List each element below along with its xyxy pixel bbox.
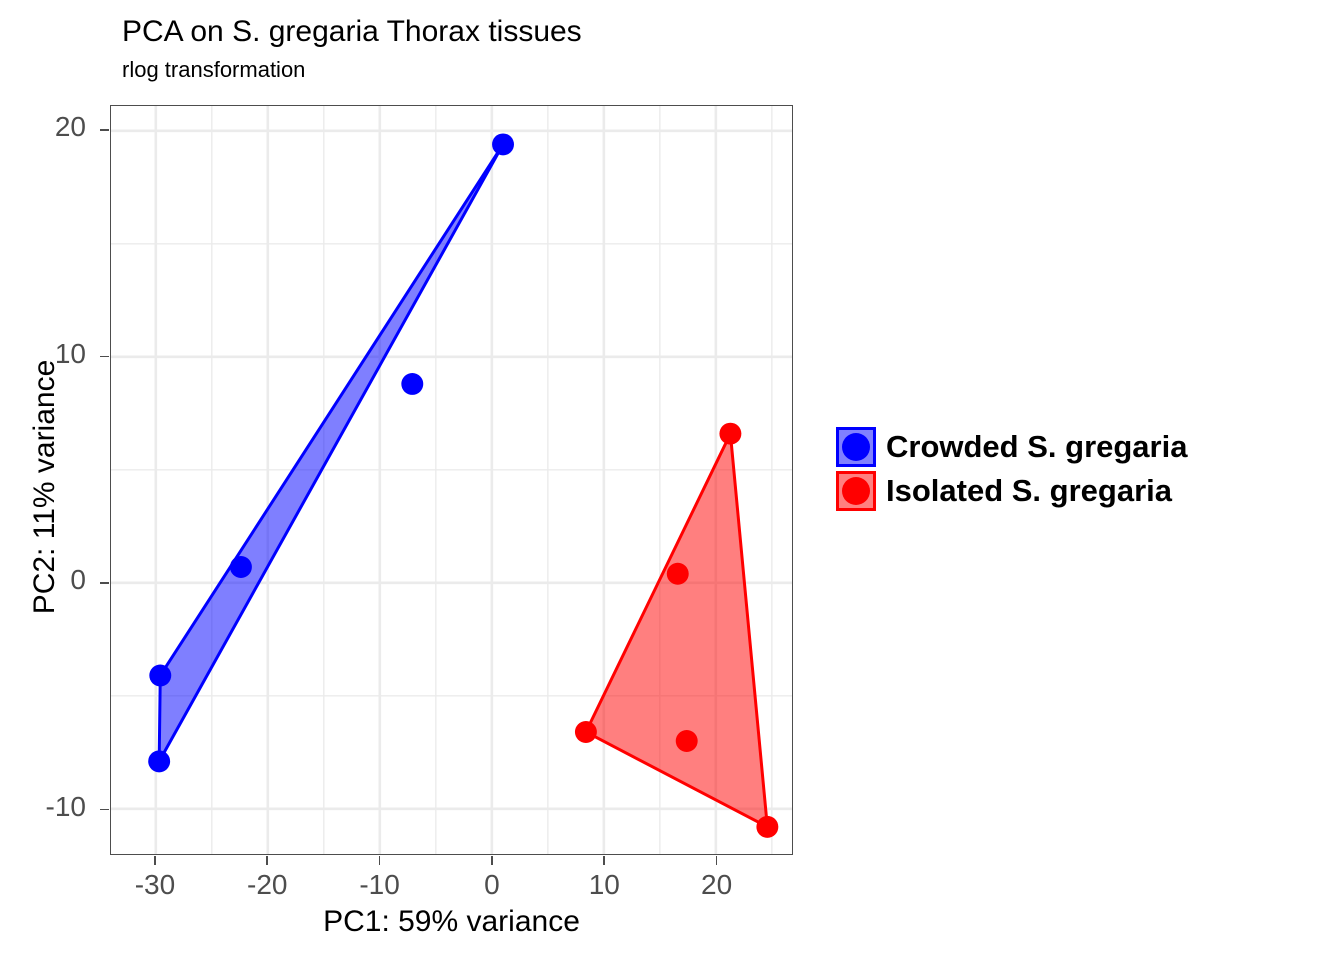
data-points bbox=[148, 133, 778, 837]
cluster-hull-isolated bbox=[586, 434, 767, 827]
legend-label-crowded: Crowded S. gregaria bbox=[886, 430, 1187, 464]
legend-dot-isolated-icon bbox=[842, 477, 870, 505]
y-axis-title: PC2: 11% variance bbox=[28, 112, 62, 862]
x-tick-label: 0 bbox=[442, 869, 542, 901]
data-point-isolated[interactable] bbox=[667, 563, 689, 585]
y-tick-mark bbox=[100, 809, 109, 811]
y-tick-mark bbox=[100, 356, 109, 358]
plot-panel bbox=[110, 105, 793, 855]
cluster-hulls bbox=[159, 144, 767, 826]
data-point-crowded[interactable] bbox=[401, 373, 423, 395]
data-point-isolated[interactable] bbox=[575, 721, 597, 743]
legend: Crowded S. gregaria Isolated S. gregaria bbox=[836, 425, 1187, 513]
x-tick-mark bbox=[603, 856, 605, 865]
data-point-crowded[interactable] bbox=[492, 133, 514, 155]
x-tick-mark bbox=[491, 856, 493, 865]
data-point-crowded[interactable] bbox=[230, 556, 252, 578]
plot-subtitle: rlog transformation bbox=[122, 56, 305, 84]
data-point-isolated[interactable] bbox=[756, 816, 778, 838]
legend-item-crowded[interactable]: Crowded S. gregaria bbox=[836, 425, 1187, 469]
x-tick-mark bbox=[266, 856, 268, 865]
y-tick-mark bbox=[100, 582, 109, 584]
x-tick-mark bbox=[716, 856, 718, 865]
x-axis-title: PC1: 59% variance bbox=[110, 905, 793, 939]
data-point-isolated[interactable] bbox=[719, 423, 741, 445]
page-title: PCA on S. gregaria Thorax tissues bbox=[122, 14, 582, 50]
x-tick-mark bbox=[154, 856, 156, 865]
x-tick-mark bbox=[379, 856, 381, 865]
cluster-hull-crowded bbox=[159, 144, 503, 761]
legend-dot-crowded-icon bbox=[842, 433, 870, 461]
pca-scatter-plot: PCA on S. gregaria Thorax tissues rlog t… bbox=[0, 0, 1344, 960]
y-tick-mark bbox=[100, 129, 109, 131]
x-tick-label: 10 bbox=[554, 869, 654, 901]
x-tick-label: -10 bbox=[330, 869, 430, 901]
data-point-crowded[interactable] bbox=[149, 665, 171, 687]
data-point-crowded[interactable] bbox=[148, 750, 170, 772]
x-tick-label: -20 bbox=[217, 869, 317, 901]
plot-canvas bbox=[111, 106, 792, 854]
x-tick-label: -30 bbox=[105, 869, 205, 901]
legend-item-isolated[interactable]: Isolated S. gregaria bbox=[836, 469, 1187, 513]
legend-key-isolated-icon bbox=[836, 471, 876, 511]
legend-key-crowded-icon bbox=[836, 427, 876, 467]
legend-label-isolated: Isolated S. gregaria bbox=[886, 474, 1172, 508]
data-point-isolated[interactable] bbox=[676, 730, 698, 752]
x-tick-label: 20 bbox=[667, 869, 767, 901]
